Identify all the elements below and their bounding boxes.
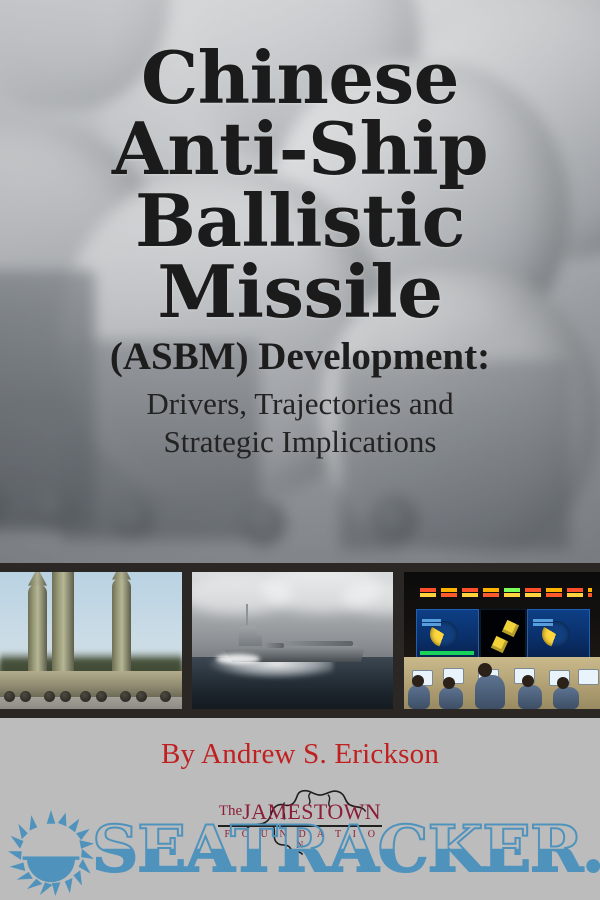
lower-panel: By Andrew S. Erickson TheJAMESTOWN F O U… [0, 718, 600, 900]
title-line-1: Chinese [0, 42, 600, 113]
ticker-cell [504, 588, 520, 592]
title-line-3: Ballistic [0, 185, 600, 256]
operator [439, 687, 463, 709]
mission-control-photo [404, 572, 600, 709]
title-line-2: Anti-Ship [0, 113, 600, 184]
operator [408, 685, 430, 709]
wordmark-rule [218, 825, 382, 827]
photo-content [0, 572, 182, 709]
console-monitor [578, 669, 599, 685]
ticker-cell [483, 588, 499, 592]
operator [518, 685, 542, 709]
title-block: Chinese Anti-Ship Ballistic Missile (ASB… [0, 0, 600, 460]
display-screen-left [416, 609, 479, 660]
deck-aircraft [264, 643, 284, 648]
subtitle-line-2: Strategic Implications [0, 423, 600, 461]
title-line-4: Missile [0, 256, 600, 327]
display-screen-right [527, 609, 590, 660]
photo-content [192, 572, 393, 709]
photo-content [404, 572, 600, 709]
ticker-cell [567, 588, 583, 592]
operator-head [412, 675, 424, 687]
operator [553, 687, 579, 709]
satellite-icon [502, 620, 519, 637]
ticker-cell [441, 588, 457, 592]
aircraft-carrier-photo [192, 572, 393, 709]
missile-tel-parade-photo [0, 572, 182, 709]
operator-consoles [404, 657, 600, 709]
page-title: Chinese Anti-Ship Ballistic Missile [0, 42, 600, 327]
publisher-wordmark: TheJAMESTOWN [216, 801, 384, 823]
subtitle-primary: (ASBM) Development: [0, 335, 600, 379]
carrier-mast [246, 604, 248, 626]
subtitle-line-1: Drivers, Trajectories and [0, 385, 600, 423]
subtitle-secondary: Drivers, Trajectories and Strategic Impl… [0, 385, 600, 461]
publisher-name: JAMESTOWN [242, 799, 381, 824]
deck-aircraft [284, 641, 352, 646]
book-cover: Chinese Anti-Ship Ballistic Missile (ASB… [0, 0, 600, 900]
bow-foam [216, 654, 260, 664]
photo-strip [0, 563, 600, 718]
operator-head [557, 677, 569, 689]
ticker-cell [546, 588, 562, 592]
author-byline: By Andrew S. Erickson [0, 738, 600, 771]
publisher-subtitle: F O U N D A T I O N [216, 829, 384, 851]
publisher-the: The [219, 803, 242, 819]
operator-head [522, 675, 534, 687]
missile-body [112, 578, 131, 682]
display-screen-center [480, 609, 525, 660]
status-ticker [420, 584, 593, 596]
screen-text-row [533, 623, 552, 626]
ticker-cell [525, 588, 541, 592]
ticker-cell [588, 588, 593, 592]
screen-text-row [422, 619, 441, 622]
missile-body [52, 572, 74, 682]
screen-text-row [422, 623, 441, 626]
ticker-cell [420, 588, 436, 592]
screen-text-row [533, 619, 552, 622]
satellite-icon [491, 635, 508, 652]
progress-bar [420, 651, 473, 654]
publisher-logo: TheJAMESTOWN F O U N D A T I O N [216, 801, 384, 851]
missile-body [28, 584, 47, 682]
ticker-cell [462, 588, 478, 592]
operator [475, 675, 505, 709]
